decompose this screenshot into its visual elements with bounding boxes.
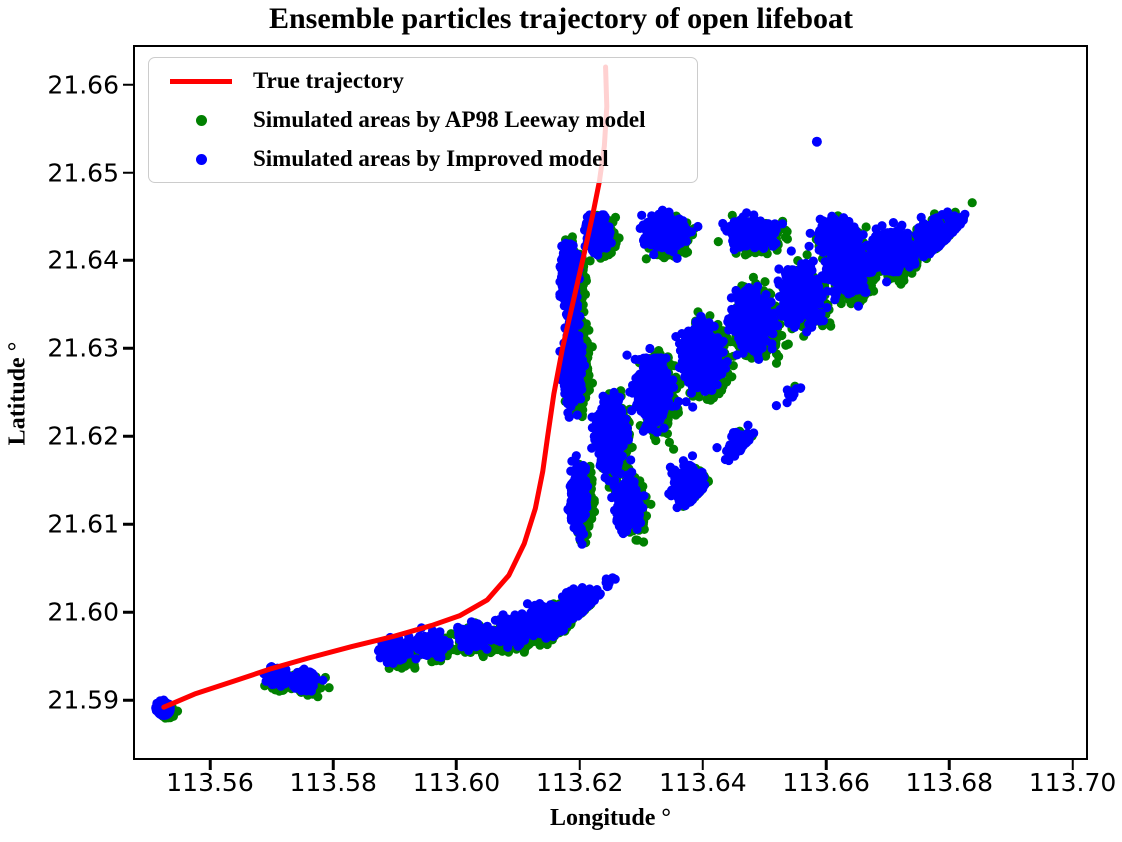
x-tick-mark xyxy=(702,760,705,770)
y-tick-mark xyxy=(123,347,133,350)
y-tick-mark xyxy=(123,699,133,702)
x-axis-label: Longitude ° xyxy=(133,805,1088,832)
x-tick-mark xyxy=(948,760,951,770)
legend-item-ap98-leeway: Simulated areas by AP98 Leeway model xyxy=(149,101,699,139)
legend-dot-swatch-icon xyxy=(149,115,253,126)
y-tick-mark xyxy=(123,83,133,86)
page-title: Ensemble particles trajectory of open li… xyxy=(0,2,1122,36)
x-tick-mark xyxy=(332,760,335,770)
y-tick-label: 21.65 xyxy=(0,158,119,187)
legend-label: Simulated areas by Improved model xyxy=(253,146,609,172)
y-axis-label: Latitude ° xyxy=(5,294,32,494)
y-tick-label: 21.61 xyxy=(0,510,119,539)
y-tick-label: 21.60 xyxy=(0,598,119,627)
legend-dot-swatch-icon xyxy=(149,154,253,165)
x-tick-mark xyxy=(455,760,458,770)
legend-item-improved-model: Simulated areas by Improved model xyxy=(149,140,699,178)
legend-label: True trajectory xyxy=(253,68,404,94)
x-tick-label: 113.70 xyxy=(983,768,1122,797)
y-tick-label: 21.66 xyxy=(0,70,119,99)
y-tick-label: 21.64 xyxy=(0,246,119,275)
legend-line-swatch-icon xyxy=(149,79,253,84)
legend-label: Simulated areas by AP98 Leeway model xyxy=(253,107,645,133)
y-tick-mark xyxy=(123,611,133,614)
y-tick-label: 21.59 xyxy=(0,686,119,715)
y-tick-mark xyxy=(123,523,133,526)
x-tick-mark xyxy=(1071,760,1074,770)
x-tick-mark xyxy=(578,760,581,770)
legend: True trajectory Simulated areas by AP98 … xyxy=(148,57,698,183)
legend-item-true-trajectory: True trajectory xyxy=(149,62,699,100)
y-tick-mark xyxy=(123,259,133,262)
x-tick-mark xyxy=(209,760,212,770)
y-tick-mark xyxy=(123,171,133,174)
y-tick-mark xyxy=(123,435,133,438)
figure-container: Ensemble particles trajectory of open li… xyxy=(0,0,1122,842)
x-tick-mark xyxy=(825,760,828,770)
